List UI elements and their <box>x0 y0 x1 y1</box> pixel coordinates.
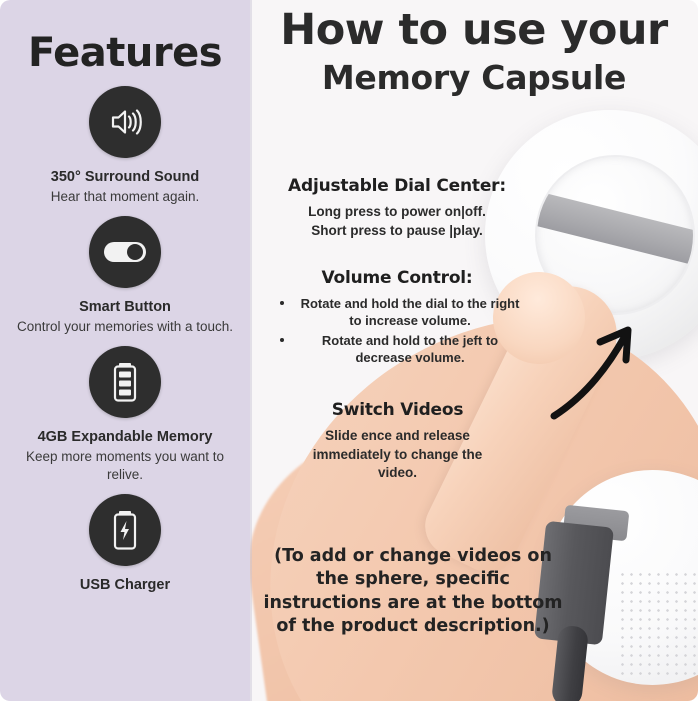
feature-title: 4GB Expandable Memory <box>0 428 250 446</box>
bullet-text: Rotate and hold the dial to the right to… <box>301 296 520 328</box>
switch-line-3: video. <box>270 464 525 483</box>
section-adjustable-dial-center: Adjustable Dial Center: Long press to po… <box>262 176 532 240</box>
features-heading: Features <box>0 30 250 76</box>
battery-charging-icon <box>89 494 161 566</box>
feature-item-expandable-memory: 4GB Expandable Memory Keep more moments … <box>0 346 250 484</box>
feature-title: 350° Surround Sound <box>0 168 250 186</box>
feature-item-smart-button: Smart Button Control your memories with … <box>0 216 250 336</box>
feature-item-usb-charger: USB Charger <box>0 494 250 594</box>
list-item: Rotate and hold the dial to the right to… <box>280 295 526 330</box>
switch-line-2: immediately to change the <box>270 446 525 465</box>
section-body: Slide ence and release immediately to ch… <box>270 427 525 483</box>
volume-bullet-list: Rotate and hold the dial to the right to… <box>262 295 532 366</box>
battery-memory-icon <box>89 346 161 418</box>
bullet-dot-icon <box>280 338 284 342</box>
title-line-2: Memory Capsule <box>250 58 698 98</box>
panel-divider <box>250 0 252 701</box>
switch-line-1: Slide ence and release <box>270 427 525 446</box>
instructions-content: How to use your Memory Capsule Adjustabl… <box>250 0 698 701</box>
feature-description: Control your memories with a touch. <box>0 318 250 336</box>
dial-line-2: Short press to pause |play. <box>262 222 532 241</box>
page-title: How to use your Memory Capsule <box>250 0 698 97</box>
dial-line-1: Long press to power on|off. <box>262 203 532 222</box>
section-volume-control: Volume Control: Rotate and hold the dial… <box>262 268 532 368</box>
bullet-text: Rotate and hold to the jeft to decrease … <box>322 333 498 365</box>
speaker-volume-icon <box>89 86 161 158</box>
section-body: Long press to power on|off. Short press … <box>262 203 532 240</box>
title-line-1: How to use your <box>250 8 698 54</box>
feature-item-surround-sound: 350° Surround Sound Hear that moment aga… <box>0 86 250 206</box>
section-heading: Volume Control: <box>262 268 532 288</box>
instructions-panel: How to use your Memory Capsule Adjustabl… <box>250 0 698 701</box>
feature-description: Keep more moments you want to relive. <box>0 448 250 484</box>
bullet-dot-icon <box>280 301 284 305</box>
section-heading: Switch Videos <box>270 400 525 420</box>
list-item: Rotate and hold to the jeft to decrease … <box>280 332 526 367</box>
section-heading: Adjustable Dial Center: <box>262 176 532 196</box>
toggle-switch-icon <box>89 216 161 288</box>
feature-title: USB Charger <box>0 576 250 594</box>
section-switch-videos: Switch Videos Slide ence and release imm… <box>270 400 525 483</box>
features-sidebar: Features 350° Surround Sound Hear that m… <box>0 0 250 701</box>
footnote-text: (To add or change videos on the sphere, … <box>258 545 568 638</box>
feature-description: Hear that moment again. <box>0 188 250 206</box>
infographic-root: Features 350° Surround Sound Hear that m… <box>0 0 698 701</box>
feature-title: Smart Button <box>0 298 250 316</box>
